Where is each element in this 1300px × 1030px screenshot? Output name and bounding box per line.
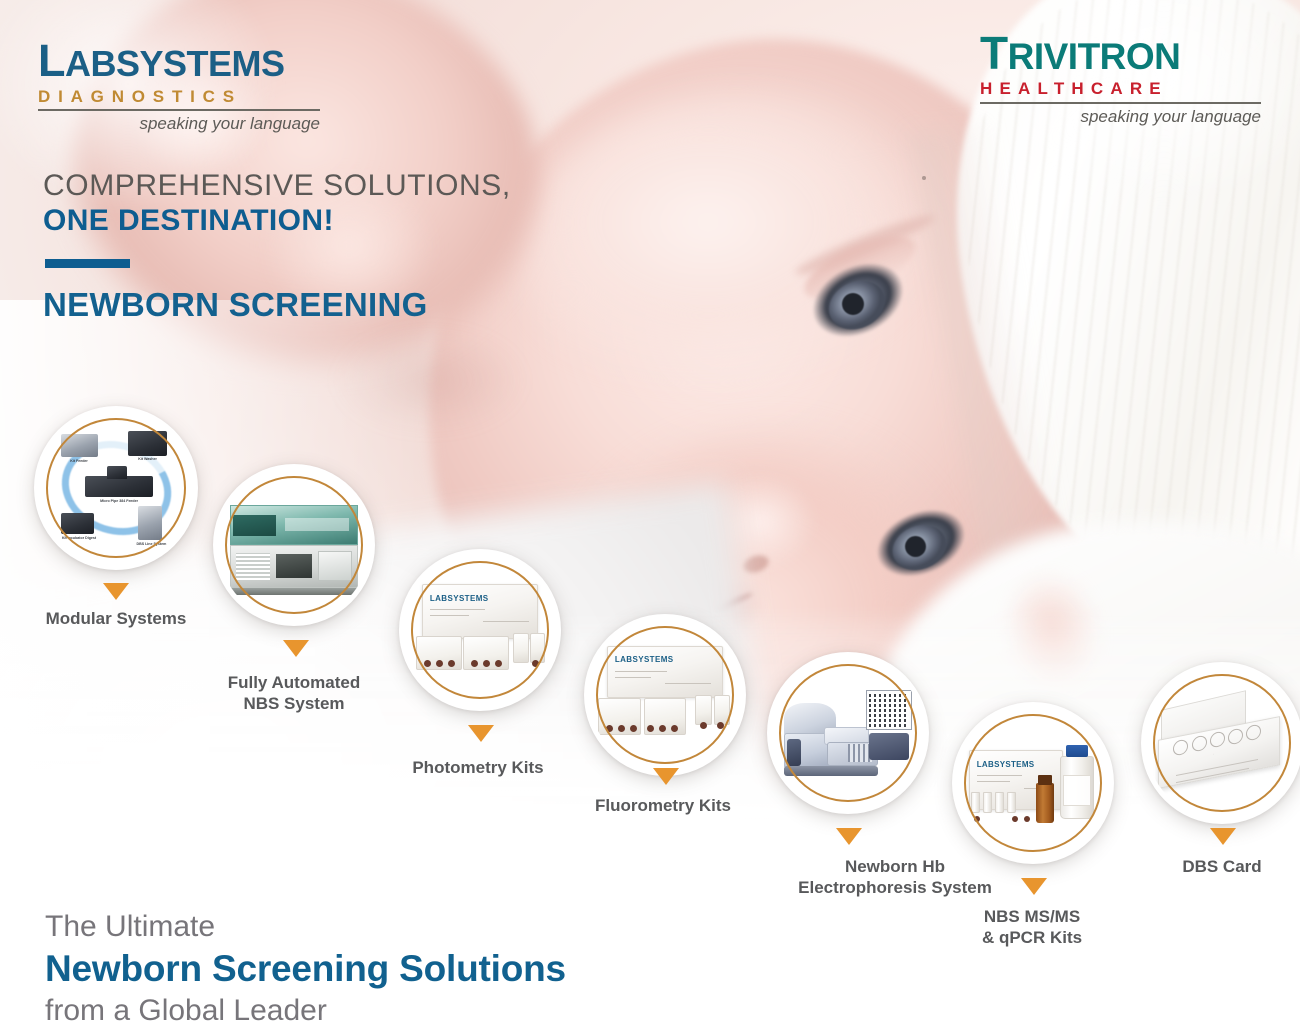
trivitron-rule — [980, 102, 1261, 104]
pointer-arrow-newborn-hb — [836, 828, 862, 845]
headline-line-1: COMPREHENSIVE SOLUTIONS, — [43, 168, 663, 203]
labsystems-rule — [38, 109, 320, 111]
product-ring-dbs-card — [1153, 674, 1291, 812]
product-label-fluorometry-kits: Fluorometry Kits — [553, 795, 773, 816]
product-bubble-dbs-card[interactable]: · — [1141, 662, 1300, 824]
pointer-arrow-fluorometry-kits — [653, 768, 679, 785]
product-bubble-photometry-kits[interactable]: LABSYSTEMS — [399, 549, 561, 711]
headline-line-2: ONE DESTINATION! — [43, 203, 663, 238]
headline-line-3: NEWBORN SCREENING — [43, 286, 663, 324]
baby-pupil-upper — [842, 293, 864, 315]
pointer-arrow-photometry-kits — [468, 725, 494, 742]
product-bubble-nbs-msms-qpcr[interactable]: LABSYSTEMS — [952, 702, 1114, 864]
trivitron-logo: TRIVITRON HEALTHCARE speaking your langu… — [980, 32, 1265, 127]
product-bubble-fully-automated-nbs[interactable] — [213, 464, 375, 626]
labsystems-logo: LABSYSTEMS DIAGNOSTICS speaking your lan… — [38, 40, 338, 134]
labsystems-wordmark-text: LABSYSTEMS — [38, 35, 285, 86]
product-label-fully-automated-nbs: Fully Automated NBS System — [184, 672, 404, 715]
pointer-arrow-modular-systems — [103, 583, 129, 600]
product-label-dbs-card: DBS Card — [1112, 856, 1300, 877]
product-ring-newborn-hb — [779, 664, 917, 802]
product-bubble-fluorometry-kits[interactable]: LABSYSTEMS — [584, 614, 746, 776]
poster-canvas: LABSYSTEMS DIAGNOSTICS speaking your lan… — [0, 0, 1300, 1030]
tagline-line-2: Newborn Screening Solutions — [45, 946, 745, 991]
trivitron-wordmark: TRIVITRON — [980, 32, 1265, 76]
tagline-block: The Ultimate Newborn Screening Solutions… — [45, 908, 745, 1030]
product-label-modular-systems: Modular Systems — [6, 608, 226, 629]
product-label-nbs-msms-qpcr: NBS MS/MS & qPCR Kits — [922, 906, 1142, 949]
product-label-photometry-kits: Photometry Kits — [368, 757, 588, 778]
labsystems-tagline: speaking your language — [38, 114, 320, 134]
tagline-line-1: The Ultimate — [45, 908, 745, 946]
labsystems-wordmark: LABSYSTEMS — [38, 40, 338, 83]
pointer-arrow-nbs-msms-qpcr — [1021, 878, 1047, 895]
headline-divider — [45, 259, 130, 268]
pointer-arrow-fully-automated-nbs — [283, 640, 309, 657]
pointer-arrow-dbs-card — [1210, 828, 1236, 845]
product-ring-fully-automated-nbs — [225, 476, 363, 614]
tagline-line-3: from a Global Leader — [45, 992, 745, 1030]
product-bubble-newborn-hb[interactable] — [767, 652, 929, 814]
trivitron-tagline: speaking your language — [980, 107, 1261, 127]
headline-block: COMPREHENSIVE SOLUTIONS, ONE DESTINATION… — [43, 168, 663, 324]
product-label-newborn-hb: Newborn Hb Electrophoresis System — [760, 856, 1030, 899]
trivitron-wordmark-text: TRIVITRON — [980, 27, 1180, 79]
labsystems-subtitle: DIAGNOSTICS — [38, 87, 338, 107]
baby-pupil-lower — [905, 536, 926, 557]
baby-photograph — [0, 0, 1300, 1030]
product-ring-nbs-msms-qpcr — [964, 714, 1102, 852]
product-ring-fluorometry-kits — [596, 626, 734, 764]
trivitron-subtitle: HEALTHCARE — [980, 79, 1265, 99]
product-ring-modular-systems — [46, 418, 186, 558]
product-bubble-modular-systems[interactable]: Kit Feeder Kit Washer Micro Pipe 384 Fee… — [34, 406, 198, 570]
product-ring-photometry-kits — [411, 561, 549, 699]
